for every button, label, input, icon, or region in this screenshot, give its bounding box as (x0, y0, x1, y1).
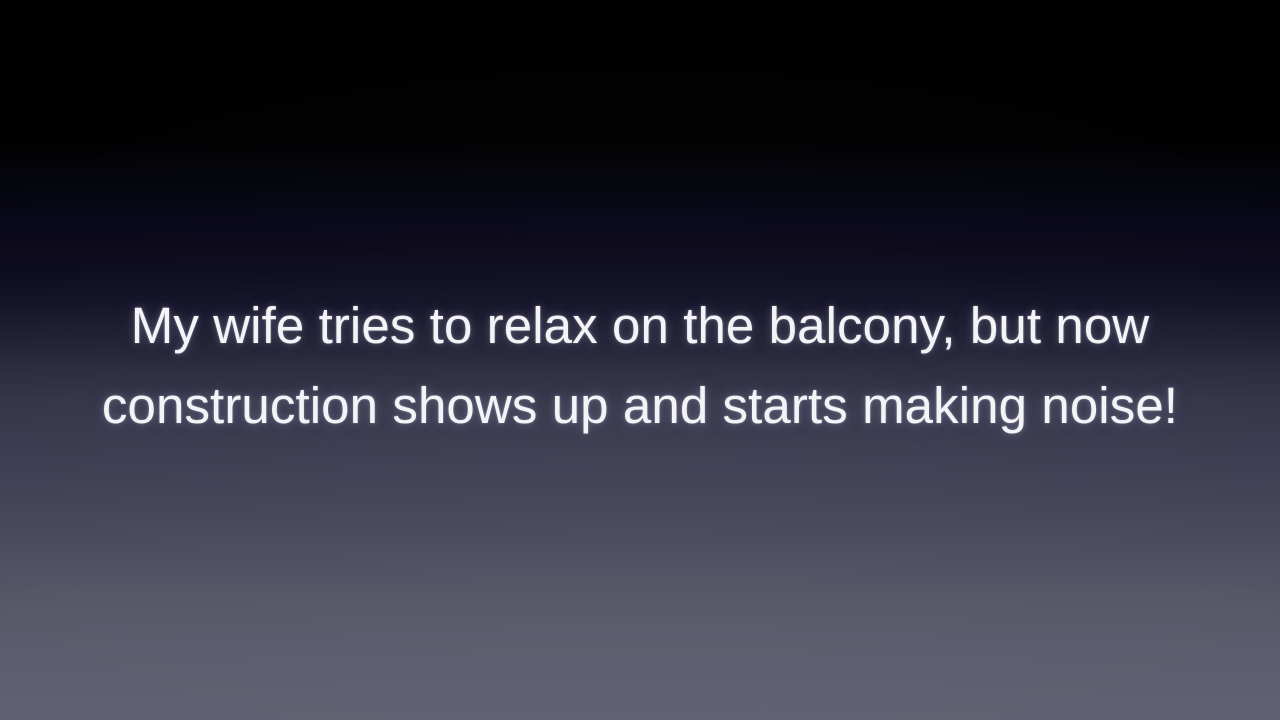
gradient-backdrop (0, 0, 1280, 720)
video-frame: My wife tries to relax on the balcony, b… (0, 0, 1280, 720)
